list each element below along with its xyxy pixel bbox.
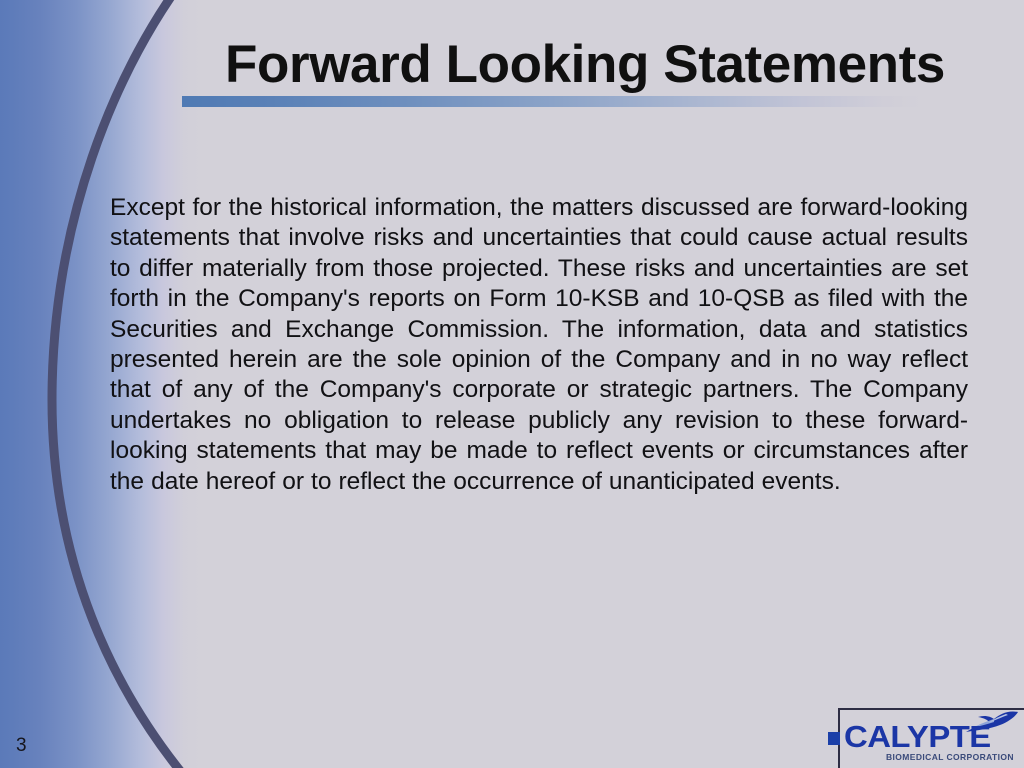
calypte-logo: CALYPTE BIOMEDICAL CORPORATION (838, 706, 1024, 768)
slide: Forward Looking Statements Except for th… (0, 0, 1024, 768)
page-title: Forward Looking Statements (190, 34, 980, 96)
logo-wordmark: CALYPTE (844, 721, 991, 752)
logo-tagline: BIOMEDICAL CORPORATION (886, 753, 1014, 762)
page-number: 3 (16, 735, 27, 757)
logo-accent-mark (828, 732, 840, 745)
body-paragraph: Except for the historical information, t… (110, 193, 968, 497)
title-underline-rule (182, 96, 922, 107)
